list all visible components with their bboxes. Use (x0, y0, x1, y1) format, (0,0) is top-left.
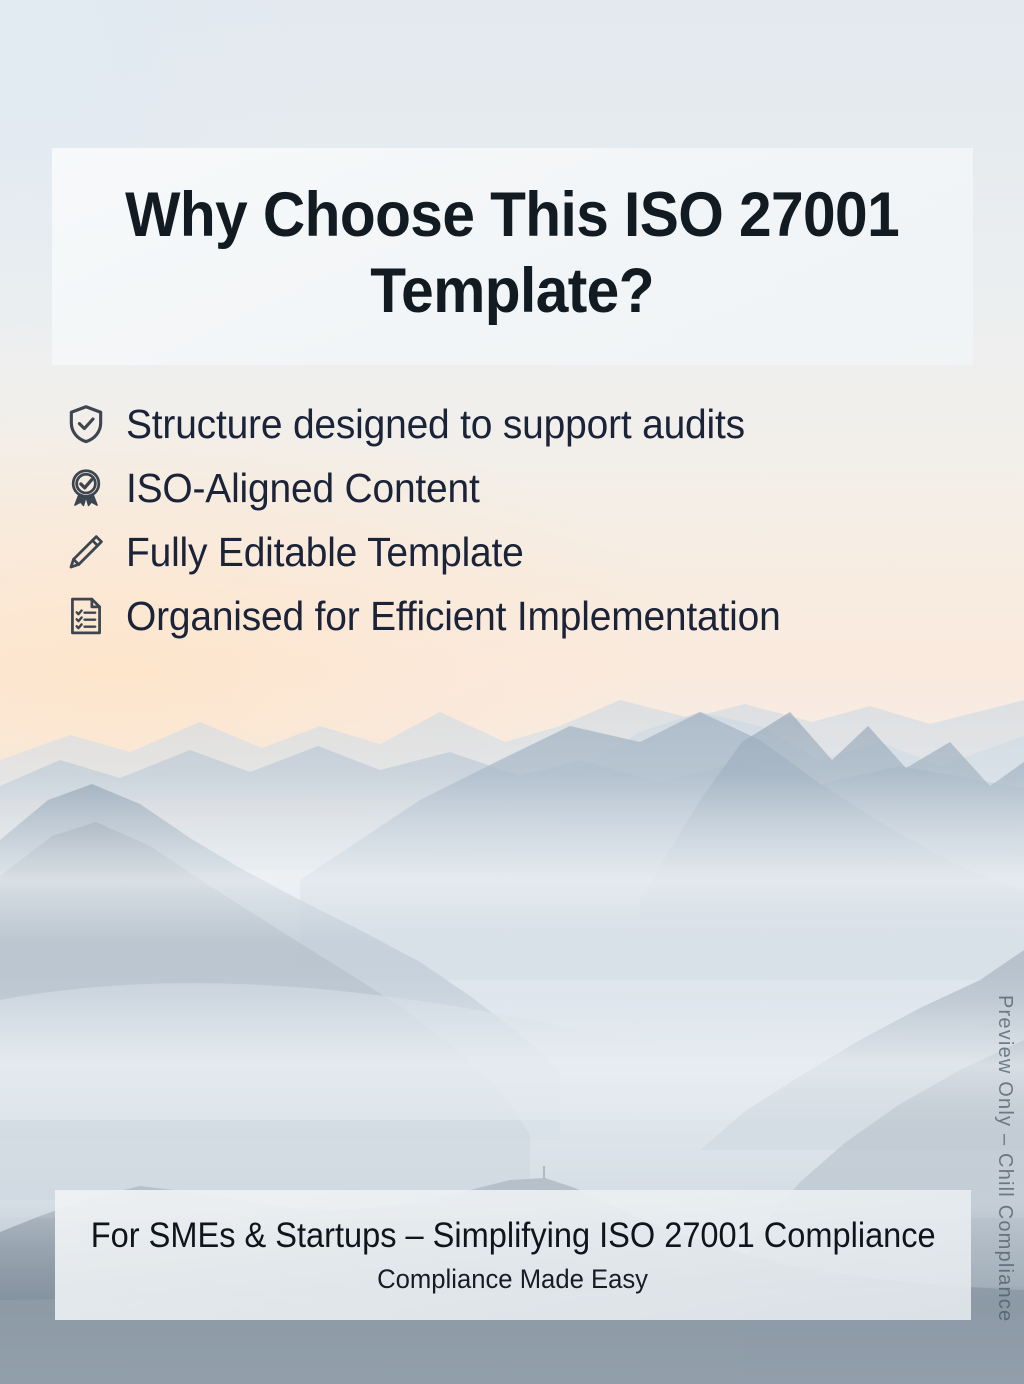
footer-tagline: Compliance Made Easy (378, 1263, 649, 1295)
page-title: Why Choose This ISO 27001 Template? (126, 178, 900, 329)
feature-label: Organised for Efficient Implementation (126, 596, 781, 637)
feature-list: Structure designed to support audits ISO… (62, 392, 962, 648)
feature-label: Structure designed to support audits (126, 404, 745, 445)
footer-primary-text: For SMEs & Startups – Simplifying ISO 27… (91, 1215, 936, 1256)
feature-item-organised: Organised for Efficient Implementation (62, 584, 962, 648)
award-check-icon (62, 464, 110, 512)
footer-banner: For SMEs & Startups – Simplifying ISO 27… (55, 1190, 971, 1320)
title-card: Why Choose This ISO 27001 Template? (52, 148, 973, 365)
preview-watermark: Preview Only – Chill Compliance (993, 995, 1016, 1322)
feature-item-structure: Structure designed to support audits (62, 392, 962, 456)
feature-item-editable: Fully Editable Template (62, 520, 962, 584)
pencil-icon (62, 528, 110, 576)
feature-item-iso-aligned: ISO-Aligned Content (62, 456, 962, 520)
shield-check-icon (62, 400, 110, 448)
document-checklist-icon (62, 592, 110, 640)
feature-label: Fully Editable Template (126, 532, 524, 573)
poster-canvas: Why Choose This ISO 27001 Template? Stru… (0, 0, 1024, 1384)
feature-label: ISO-Aligned Content (126, 468, 480, 509)
